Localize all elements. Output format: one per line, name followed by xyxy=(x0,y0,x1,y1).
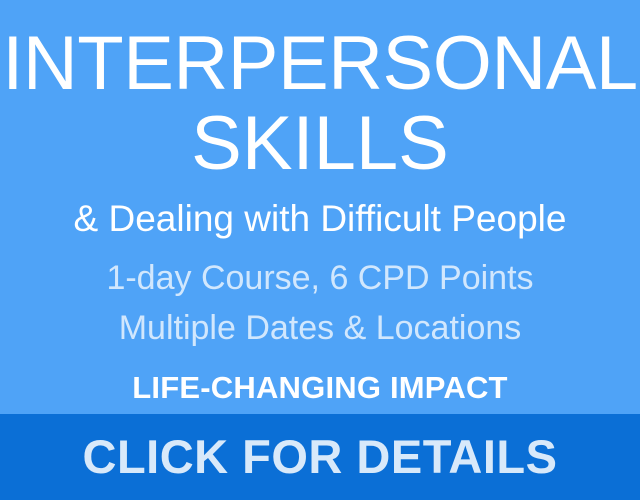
detail-line-dates-locations: Multiple Dates & Locations xyxy=(0,303,640,353)
detail-line-course-info: 1-day Course, 6 CPD Points xyxy=(0,253,640,303)
tagline: LIFE-CHANGING IMPACT xyxy=(0,369,640,407)
cta-button-label: CLICK FOR DETAILS xyxy=(83,431,558,483)
headline-block: INTERPERSONAL SKILLS xyxy=(0,24,640,184)
subheadline: & Dealing with Difficult People xyxy=(0,196,640,242)
headline-line-one: INTERPERSONAL xyxy=(0,24,640,104)
headline-line-two: SKILLS xyxy=(0,104,640,184)
promo-content-area: INTERPERSONAL SKILLS & Dealing with Diff… xyxy=(0,0,640,414)
cta-button[interactable]: CLICK FOR DETAILS xyxy=(0,414,640,500)
advertisement-banner[interactable]: INTERPERSONAL SKILLS & Dealing with Diff… xyxy=(0,0,640,500)
